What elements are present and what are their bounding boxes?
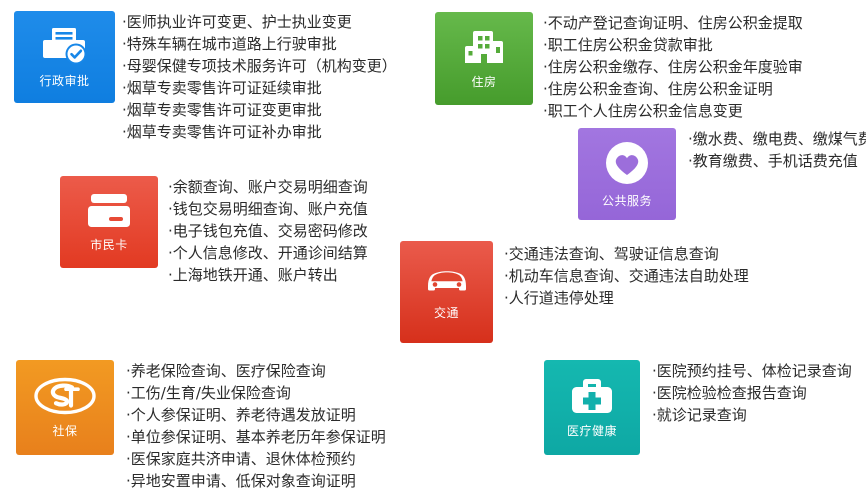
list-item: ·医师执业许可变更、护士执业变更 [122, 11, 397, 33]
tile-medical-health[interactable]: 医疗健康 [544, 360, 640, 455]
list-item: ·电子钱包充值、交易密码修改 [168, 220, 368, 242]
list-item: ·养老保险查询、医疗保险查询 [126, 360, 386, 382]
tile-label-social-security: 社保 [52, 422, 77, 439]
tile-social-security[interactable]: 社保 [16, 360, 114, 455]
car-icon [422, 264, 472, 298]
list-item: ·特殊车辆在城市道路上行驶审批 [122, 33, 397, 55]
list-item: ·职工住房公积金贷款审批 [543, 34, 803, 56]
tile-label-traffic: 交通 [434, 304, 459, 321]
tile-label-public-service: 公共服务 [602, 192, 652, 209]
list-item: ·钱包交易明细查询、账户充值 [168, 198, 368, 220]
list-item: ·烟草专卖零售许可证变更审批 [122, 99, 397, 121]
list-item: ·烟草专卖零售许可证补办审批 [122, 121, 397, 143]
social-security-logo-icon [34, 376, 96, 416]
list-item: ·个人信息修改、开通诊间结算 [168, 242, 368, 264]
group-traffic: 交通 ·交通违法查询、驾驶证信息查询 ·机动车信息查询、交通违法自助处理 ·人行… [400, 241, 749, 343]
list-item: ·医保家庭共济申请、退休体检预约 [126, 448, 386, 470]
list-item: ·异地安置申请、低保对象查询证明 [126, 470, 386, 492]
tile-label-medical-health: 医疗健康 [567, 422, 617, 439]
list-item: ·住房公积金查询、住房公积金证明 [543, 78, 803, 100]
tile-label-admin-approval: 行政审批 [39, 72, 89, 89]
list-item: ·职工个人住房公积金信息变更 [543, 100, 803, 122]
list-item: ·就诊记录查询 [652, 404, 852, 426]
list-item: ·个人参保证明、养老待遇发放证明 [126, 404, 386, 426]
tile-label-citizen-card: 市民卡 [90, 236, 128, 253]
list-item: ·交通违法查询、驾驶证信息查询 [504, 243, 749, 265]
list-item: ·医院预约挂号、体检记录查询 [652, 360, 852, 382]
list-item: ·上海地铁开通、账户转出 [168, 264, 368, 286]
list-item: ·工伤/生育/失业保险查询 [126, 382, 386, 404]
group-medical-health: 医疗健康 ·医院预约挂号、体检记录查询 ·医院检验检查报告查询 ·就诊记录查询 [544, 360, 852, 455]
tile-housing[interactable]: 住房 [435, 12, 533, 105]
group-social-security: 社保 ·养老保险查询、医疗保险查询 ·工伤/生育/失业保险查询 ·个人参保证明、… [16, 360, 386, 492]
item-list-social-security: ·养老保险查询、医疗保险查询 ·工伤/生育/失业保险查询 ·个人参保证明、养老待… [114, 360, 386, 492]
medical-kit-icon [568, 376, 616, 416]
tile-admin-approval[interactable]: 行政审批 [14, 11, 115, 103]
group-housing: 住房 ·不动产登记查询证明、住房公积金提取 ·职工住房公积金贷款审批 ·住房公积… [435, 12, 803, 122]
group-admin-approval: 行政审批 ·医师执业许可变更、护士执业变更 ·特殊车辆在城市道路上行驶审批 ·母… [14, 11, 397, 143]
building-icon [462, 27, 506, 67]
list-item: ·教育缴费、手机话费充值 [688, 150, 866, 172]
tile-public-service[interactable]: 公共服务 [578, 128, 676, 220]
credit-card-icon [85, 192, 133, 230]
list-item: ·缴水费、缴电费、缴煤气费 [688, 128, 866, 150]
document-check-icon [42, 26, 88, 66]
tile-citizen-card[interactable]: 市民卡 [60, 176, 158, 268]
item-list-housing: ·不动产登记查询证明、住房公积金提取 ·职工住房公积金贷款审批 ·住房公积金缴存… [533, 12, 803, 122]
list-item: ·机动车信息查询、交通违法自助处理 [504, 265, 749, 287]
item-list-traffic: ·交通违法查询、驾驶证信息查询 ·机动车信息查询、交通违法自助处理 ·人行道违停… [493, 241, 749, 309]
list-item: ·医院检验检查报告查询 [652, 382, 852, 404]
list-item: ·烟草专卖零售许可证延续审批 [122, 77, 397, 99]
item-list-public-service: ·缴水费、缴电费、缴煤气费 ·教育缴费、手机话费充值 [676, 128, 866, 172]
tile-traffic[interactable]: 交通 [400, 241, 493, 343]
list-item: ·母婴保健专项技术服务许可（机构变更） [122, 55, 397, 77]
service-category-board: 行政审批 ·医师执业许可变更、护士执业变更 ·特殊车辆在城市道路上行驶审批 ·母… [0, 0, 866, 487]
group-public-service: 公共服务 ·缴水费、缴电费、缴煤气费 ·教育缴费、手机话费充值 [578, 128, 866, 220]
group-citizen-card: 市民卡 ·余额查询、账户交易明细查询 ·钱包交易明细查询、账户充值 ·电子钱包充… [60, 176, 368, 286]
item-list-medical-health: ·医院预约挂号、体检记录查询 ·医院检验检查报告查询 ·就诊记录查询 [640, 360, 852, 426]
list-item: ·不动产登记查询证明、住房公积金提取 [543, 12, 803, 34]
item-list-citizen-card: ·余额查询、账户交易明细查询 ·钱包交易明细查询、账户充值 ·电子钱包充值、交易… [158, 176, 368, 286]
tile-label-housing: 住房 [471, 73, 496, 90]
item-list-admin-approval: ·医师执业许可变更、护士执业变更 ·特殊车辆在城市道路上行驶审批 ·母婴保健专项… [115, 11, 397, 143]
heart-circle-icon [604, 140, 650, 186]
list-item: ·住房公积金缴存、住房公积金年度验审 [543, 56, 803, 78]
list-item: ·人行道违停处理 [504, 287, 749, 309]
list-item: ·余额查询、账户交易明细查询 [168, 176, 368, 198]
list-item: ·单位参保证明、基本养老历年参保证明 [126, 426, 386, 448]
